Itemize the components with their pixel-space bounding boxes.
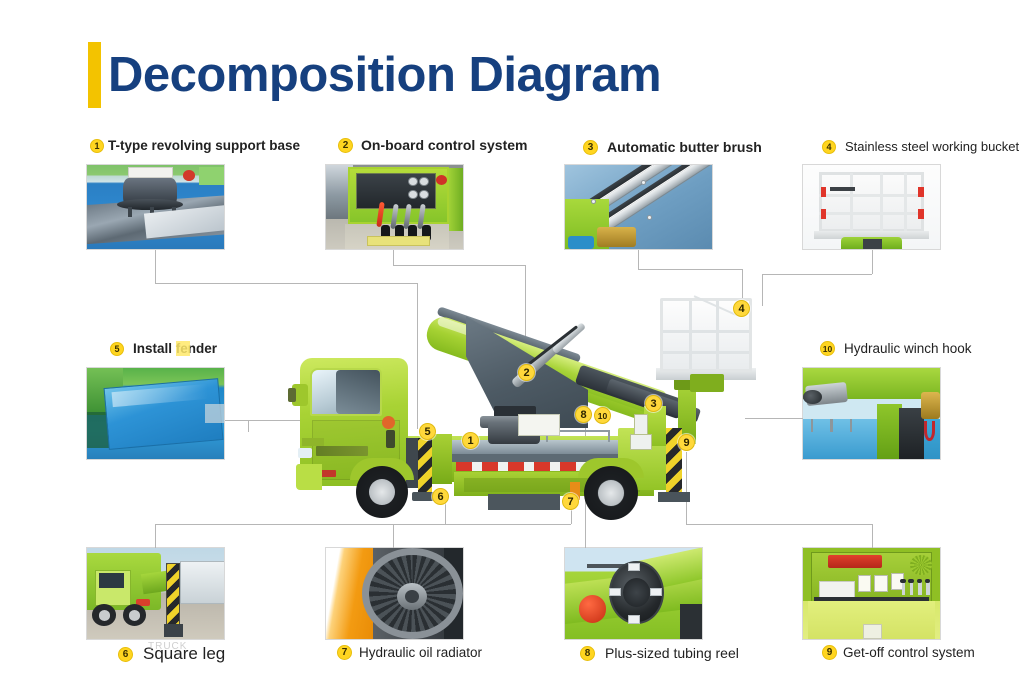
callout-badge-7: 7 [337,645,352,660]
callout-label-5: 5 Install fender [110,341,217,356]
connector-3 [638,250,639,270]
front-wheel [356,466,408,518]
callout-label-4: 4 Stainless steel working bucket [822,139,1019,154]
thumbnail-4-image [803,165,940,249]
thumbnail-5[interactable] [86,367,225,460]
callout-badge-2: 2 [338,138,353,153]
thumbnail-7-image [326,548,463,639]
connector-9 [872,524,873,548]
thumbnail-3[interactable] [564,164,713,250]
vehicle-marker-7: 7 [562,493,579,510]
thumbnail-1[interactable] [86,164,225,250]
page-title: Decomposition Diagram [108,42,661,108]
callout-badge-1: 1 [90,139,104,153]
thumbnail-1-image [87,165,224,249]
connector-4 [762,274,872,275]
thumbnail-2[interactable] [325,164,464,250]
connector-7 [393,524,571,525]
vehicle-marker-4: 4 [733,300,750,317]
callout-label-6: 6 Square leg [118,644,225,664]
vehicle-marker-3: 3 [645,395,662,412]
connector-2 [393,250,394,266]
thumbnail-9[interactable] [802,547,941,640]
thumbnail-6[interactable] [86,547,225,640]
callout-label-1: 1 T-type revolving support base [90,138,300,153]
connector-1 [155,283,417,284]
thumbnail-8-image [565,548,702,639]
thumbnail-10-image [803,368,940,459]
callout-label-9: 9 Get-off control system [822,645,975,660]
callout-badge-3: 3 [583,140,598,155]
callout-badge-6: 6 [118,647,133,662]
thumbnail-5-image [87,368,224,459]
callout-badge-4: 4 [822,140,836,154]
rear-wheel [584,466,638,520]
vehicle-marker-1: 1 [462,432,479,449]
vehicle-marker-5: 5 [419,423,436,440]
callout-label-10: 10 Hydraulic winch hook [820,341,972,356]
thumbnail-9-image [803,548,940,639]
title-accent-bar [88,42,101,108]
connector-4 [872,250,873,274]
callout-label-8: 8 Plus-sized tubing reel [580,645,739,661]
connector-3 [638,269,742,270]
diagram-canvas: Decomposition Diagram 1 T-type revolving… [0,0,1024,679]
vehicle-illustration [278,288,778,520]
callout-badge-9: 9 [822,645,837,660]
callout-label-7: 7 Hydraulic oil radiator [337,645,482,660]
thumbnail-4[interactable] [802,164,941,250]
callout-label-3: 3 Automatic butter brush [583,139,762,155]
connector-9 [686,524,872,525]
vehicle-marker-6: 6 [432,488,449,505]
connector-6 [155,524,156,548]
thumbnail-2-image [326,165,463,249]
callout-badge-5: 5 [110,342,124,356]
callout-badge-10: 10 [820,341,835,356]
vehicle-marker-9: 9 [678,434,695,451]
vehicle-marker-2: 2 [518,364,535,381]
connector-1 [155,250,156,284]
thumbnail-10[interactable] [802,367,941,460]
connector-5 [248,420,249,432]
vehicle-marker-10: 10 [594,407,611,424]
thumbnail-3-image [565,165,712,249]
connector-7 [393,524,394,548]
thumbnail-7[interactable] [325,547,464,640]
vehicle-marker-8: 8 [575,406,592,423]
connector-2 [393,265,525,266]
callout-label-2: 2 On-board control system [338,137,527,153]
thumbnail-6-image [87,548,224,639]
thumbnail-8[interactable] [564,547,703,640]
callout-badge-8: 8 [580,646,595,661]
